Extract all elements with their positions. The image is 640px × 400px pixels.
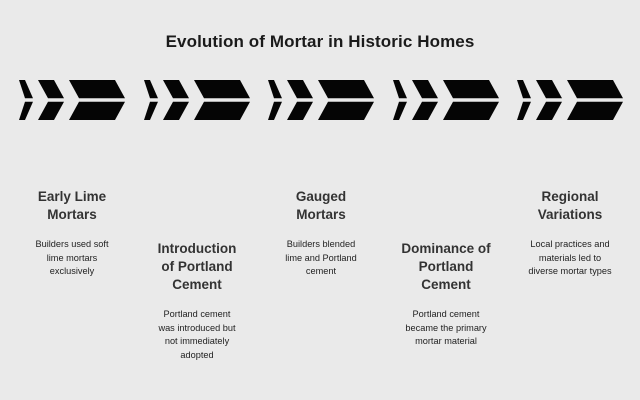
chevron-large-icon <box>317 78 375 122</box>
chevron-group <box>18 76 130 124</box>
chevron-small-icon <box>143 78 159 122</box>
chevron-large-icon <box>193 78 251 122</box>
stage-column-1: Early Lime Mortars Builders used soft li… <box>8 188 136 279</box>
chevron-medium-icon <box>162 78 190 122</box>
chevron-small-icon <box>267 78 283 122</box>
stage-heading: Introduction of Portland Cement <box>133 240 261 294</box>
chevron-large-icon <box>442 78 500 122</box>
chevron-small-icon <box>392 78 408 122</box>
chevron-group <box>143 76 255 124</box>
stage-column-2: Introduction of Portland Cement Portland… <box>133 240 261 362</box>
chevron-large-icon <box>68 78 126 122</box>
chevron-medium-icon <box>37 78 65 122</box>
stage-body: Builders used soft lime mortars exclusiv… <box>8 238 136 279</box>
stage-body: Local practices and materials led to div… <box>506 238 634 279</box>
chevron-medium-icon <box>411 78 439 122</box>
chevron-group <box>516 76 628 124</box>
stage-column-3: Gauged Mortars Builders blended lime and… <box>257 188 385 279</box>
stage-body: Portland cement became the primary morta… <box>382 308 510 349</box>
chevron-group <box>267 76 379 124</box>
stage-heading: Regional Variations <box>506 188 634 224</box>
chevron-medium-icon <box>286 78 314 122</box>
stage-body: Builders blended lime and Portland cemen… <box>257 238 385 279</box>
chevron-large-icon <box>566 78 624 122</box>
chevron-small-icon <box>18 78 34 122</box>
chevron-group <box>392 76 504 124</box>
stage-body: Portland cement was introduced but not i… <box>133 308 261 362</box>
chevron-medium-icon <box>535 78 563 122</box>
stage-heading: Early Lime Mortars <box>8 188 136 224</box>
infographic-canvas: Evolution of Mortar in Historic Homes <box>0 0 640 400</box>
chevron-arrow-band <box>0 76 640 124</box>
stage-column-5: Regional Variations Local practices and … <box>506 188 634 279</box>
stage-column-4: Dominance of Portland Cement Portland ce… <box>382 240 510 349</box>
chevron-small-icon <box>516 78 532 122</box>
stage-heading: Dominance of Portland Cement <box>382 240 510 294</box>
stage-heading: Gauged Mortars <box>257 188 385 224</box>
page-title: Evolution of Mortar in Historic Homes <box>0 32 640 52</box>
